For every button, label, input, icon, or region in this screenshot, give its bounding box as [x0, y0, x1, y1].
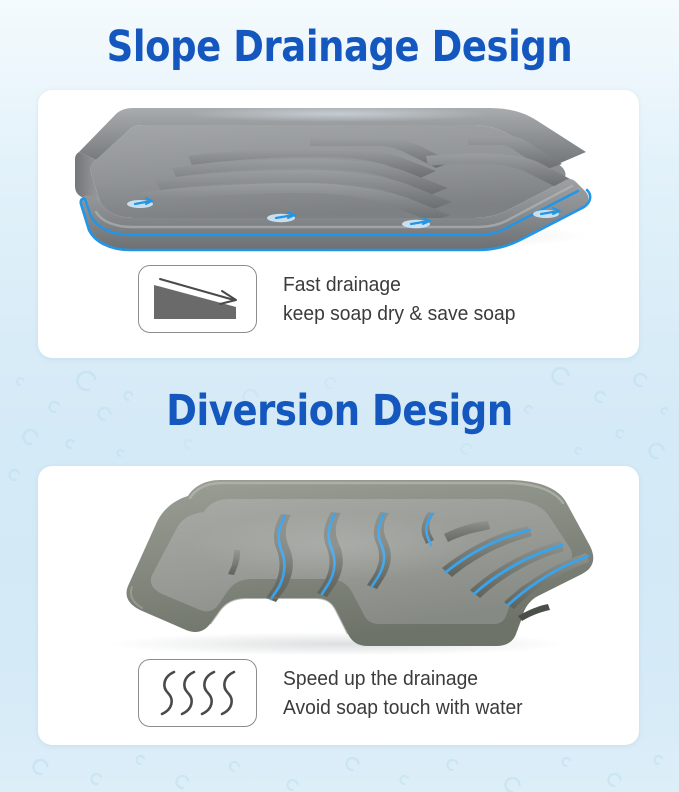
slope-arrow-icon: [138, 265, 257, 333]
feature-caption-text-2: Speed up the drainage Avoid soap touch w…: [283, 664, 523, 722]
caption-line-2: keep soap dry & save soap: [283, 299, 515, 328]
infographic-page: Slope Drainage Design: [0, 0, 679, 792]
feature-card-diversion: Speed up the drainage Avoid soap touch w…: [38, 466, 639, 745]
caption-line-1: Speed up the drainage: [283, 664, 523, 693]
wavy-lines-icon: [138, 659, 257, 727]
caption-line-2: Avoid soap touch with water: [283, 693, 523, 722]
product-image-soap-dish-angled: [38, 94, 639, 254]
feature-caption-fast-drainage: Fast drainage keep soap dry & save soap: [138, 265, 530, 333]
section-title-slope-drainage: Slope Drainage Design: [48, 22, 632, 72]
product-image-soap-dish-top: [38, 468, 639, 654]
caption-line-1: Fast drainage: [283, 270, 515, 299]
feature-card-slope-drainage: Fast drainage keep soap dry & save soap: [38, 90, 639, 358]
feature-caption-speed-drainage: Speed up the drainage Avoid soap touch w…: [138, 659, 538, 727]
feature-caption-text-1: Fast drainage keep soap dry & save soap: [283, 270, 515, 328]
section-title-diversion: Diversion Design: [48, 386, 632, 436]
